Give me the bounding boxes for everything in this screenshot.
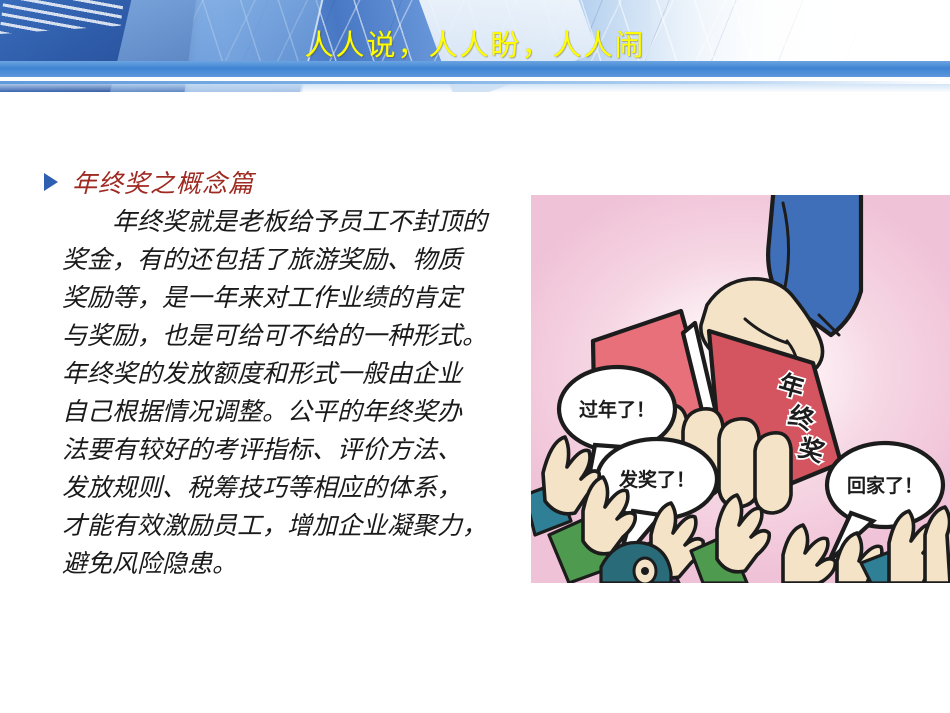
slide-body: 年终奖之概念篇 年终奖就是老板给予员工不封顶的 奖金，有的还包括了旅游奖励、物质…	[0, 92, 950, 713]
body-line: 奖金，有的还包括了旅游奖励、物质	[62, 242, 514, 280]
slide-title: 人人说，人人盼，人人闹	[0, 22, 950, 64]
year-end-bonus-cartoon: ¥ 年 终 奖	[531, 195, 950, 583]
body-line: 年终奖的发放额度和形式一般由企业	[62, 356, 514, 394]
bubble-text: 回家了！	[847, 474, 923, 497]
bubble-text: 过年了！	[579, 398, 655, 421]
body-line: 与奖励，也是可给可不给的一种形式。	[62, 318, 514, 356]
triangle-right-icon	[44, 173, 58, 191]
section-heading: 年终奖之概念篇	[72, 164, 254, 200]
header-banner: 人人说，人人盼，人人闹	[0, 0, 950, 92]
body-paragraph: 年终奖就是老板给予员工不封顶的 奖金，有的还包括了旅游奖励、物质 奖励等，是一年…	[62, 204, 514, 584]
cartoon-svg: ¥ 年 终 奖	[531, 195, 950, 583]
banner-bottom-fade	[0, 84, 950, 92]
slide-canvas: 人人说，人人盼，人人闹 年终奖之概念篇 年终奖就是老板给予员工不封顶的 奖金，有…	[0, 0, 950, 713]
body-line: 自己根据情况调整。公平的年终奖办	[62, 394, 514, 432]
bubble-text: 发奖了！	[618, 468, 695, 491]
body-line: 法要有较好的考评指标、评价方法、	[62, 432, 514, 470]
body-line: 年终奖就是老板给予员工不封顶的	[62, 204, 514, 242]
body-line: 奖励等，是一年来对工作业绩的肯定	[62, 280, 514, 318]
body-line: 才能有效激励员工，增加企业凝聚力，	[62, 508, 514, 546]
section-heading-row: 年终奖之概念篇	[44, 164, 254, 200]
body-line: 发放规则、税筹技巧等相应的体系，	[62, 470, 514, 508]
body-line: 避免风险隐患。	[62, 546, 514, 584]
